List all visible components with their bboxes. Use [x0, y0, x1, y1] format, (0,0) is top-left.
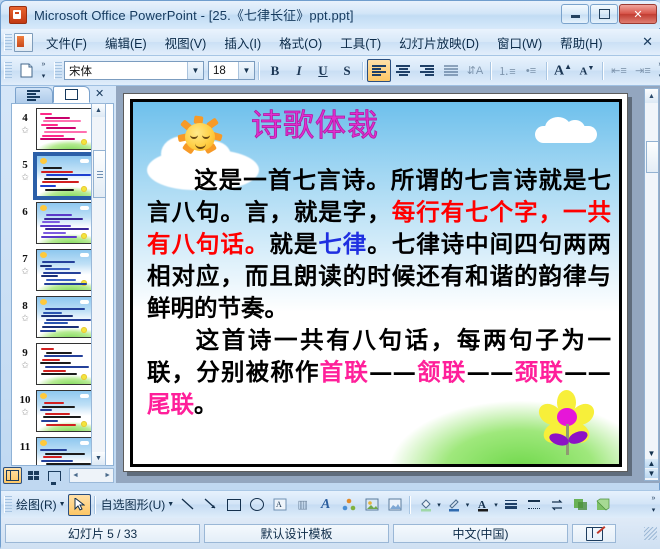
- scroll-left-button[interactable]: ◄: [72, 472, 79, 479]
- bold-button[interactable]: B: [263, 59, 287, 82]
- align-left-icon: [372, 65, 386, 76]
- cloud-icon: [80, 441, 89, 445]
- thumbnail-text-line: [44, 283, 87, 285]
- thumbnail-number: 10: [14, 394, 36, 406]
- drawing-toolbar: 绘图(R) ▼ 自选图形(U) ▼ A ▥ A ▾ ▾ A ▾ »▾: [1, 490, 660, 519]
- slides-pane: ✕ 4✩5✩67✩8✩9✩10✩11 ▲ ▼ ◄ ►: [3, 86, 114, 483]
- rectangle-icon[interactable]: [222, 494, 245, 516]
- animation-star-icon: ✩: [14, 266, 36, 276]
- diagram-icon[interactable]: [337, 494, 360, 516]
- thumbnail-text-line: [43, 232, 66, 234]
- line-spacing-button[interactable]: [439, 59, 463, 82]
- font-name-combo[interactable]: 宋体 ▼: [64, 61, 204, 80]
- thumbnail-text-line: [43, 120, 81, 122]
- slide-canvas[interactable]: 诗歌体裁 这是一首七言诗。所谓的七言诗就是七言八句。言，就是字，每行有七个字，一…: [130, 99, 622, 467]
- toolbar-overflow-1[interactable]: »▾: [38, 60, 49, 82]
- thumbnail-slide-9[interactable]: 9✩: [12, 339, 98, 386]
- close-document-button[interactable]: ✕: [642, 34, 653, 50]
- thumbnail-meta: 10✩: [14, 390, 36, 417]
- thumbnail-text-line: [46, 214, 72, 216]
- thumbnail-preview[interactable]: [36, 249, 94, 291]
- slide-frame: 诗歌体裁 这是一首七言诗。所谓的七言诗就是七言八句。言，就是字，每行有七个字，一…: [123, 93, 628, 472]
- toolbar-grip-2[interactable]: [54, 62, 62, 79]
- select-arrow-icon[interactable]: [68, 494, 91, 516]
- thumbnail-slide-7[interactable]: 7✩: [12, 245, 98, 292]
- thumbnail-text-line: [46, 174, 91, 176]
- sun-icon: [40, 252, 47, 258]
- italic-button[interactable]: I: [287, 59, 311, 82]
- slide-counter: 幻灯片 5 / 33: [5, 524, 200, 543]
- increase-font-size-button[interactable]: A▲: [551, 59, 575, 82]
- promote-icon: ⇤≡: [611, 64, 627, 77]
- thumbnail-number: 7: [14, 253, 36, 265]
- scroll-up-button[interactable]: ▲: [645, 89, 658, 103]
- slide-edit-area: 诗歌体裁 这是一首七言诗。所谓的七言诗就是七言八句。言，就是字，每行有七个字，一…: [116, 86, 660, 483]
- numbering-button[interactable]: ⒈≡: [495, 59, 519, 82]
- animation-star-icon: ✩: [14, 313, 36, 323]
- menu-edit[interactable]: 编辑(E): [97, 29, 155, 56]
- window-title: Microsoft Office PowerPoint - [25.《七律长征》…: [34, 5, 354, 24]
- powerpoint-icon: [9, 6, 27, 24]
- slide-sorter-icon: [28, 471, 39, 480]
- thumbnail-text-line: [44, 355, 83, 357]
- thumbnail-text-line: [42, 135, 64, 137]
- thumbnail-text-line: [42, 406, 75, 408]
- slide-paragraph-2: 这首诗一共有八句话，每两句子为一联，分别被称作首联——颔联——颈联——尾联。: [147, 324, 611, 420]
- cloud-icon: [80, 253, 89, 257]
- autoshapes-menu-button[interactable]: 自选图形(U): [99, 496, 168, 513]
- thumbnail-text-line: [44, 402, 64, 404]
- scroll-right-button[interactable]: ►: [104, 472, 111, 479]
- horizontal-scrollbar[interactable]: ◄ ►: [69, 468, 114, 483]
- thumbnail-text-line: [43, 272, 81, 274]
- slide-show-button[interactable]: [45, 467, 64, 484]
- draw-menu-button[interactable]: 绘图(R): [14, 496, 59, 513]
- scroll-down-button[interactable]: ▼: [648, 449, 656, 458]
- minimize-button[interactable]: [561, 4, 589, 24]
- thumbnail-number: 4: [14, 112, 36, 124]
- menu-bar: 文件(F) 编辑(E) 视图(V) 插入(I) 格式(O) 工具(T) 幻灯片放…: [1, 29, 660, 56]
- thumbnail-text-line: [46, 319, 91, 321]
- cloud-icon: [80, 206, 89, 210]
- menu-window[interactable]: 窗口(W): [489, 29, 550, 56]
- formatting-toolbar: »▾ 宋体 ▼ 18 ▼ B I U S ⇵A: [1, 56, 660, 86]
- thumbnail-number: 5: [14, 159, 36, 171]
- outline-icon: [27, 90, 41, 100]
- menu-format[interactable]: 格式(O): [271, 29, 330, 56]
- thumbnail-text-line: [43, 312, 62, 314]
- oval-icon[interactable]: [245, 494, 268, 516]
- thumbnail-number: 6: [14, 206, 36, 218]
- spellcheck-status[interactable]: [572, 524, 616, 543]
- wordart-vertical-icon[interactable]: ▥: [291, 494, 314, 516]
- thumbnail-text-line: [41, 420, 58, 422]
- normal-view-button[interactable]: [3, 467, 22, 484]
- thumbnail-meta: 5✩: [14, 155, 36, 182]
- font-size-value: 18: [213, 65, 226, 77]
- animation-star-icon: ✩: [14, 360, 36, 370]
- thumbnail-text-line: [42, 359, 60, 361]
- thumbnail-scrollbar[interactable]: ▲ ▼: [91, 103, 106, 466]
- textbox-icon[interactable]: A: [268, 494, 291, 516]
- flower-icon: [81, 139, 87, 145]
- thumbnail-preview[interactable]: [36, 296, 94, 338]
- thumbnail-number: 11: [14, 441, 36, 453]
- thumbnail-slide-5[interactable]: 5✩: [12, 151, 98, 198]
- menu-insert[interactable]: 插入(I): [216, 29, 269, 56]
- thumbnail-text-line: [42, 326, 79, 328]
- thumbnail-text-line: [46, 424, 76, 426]
- thumbnail-text-line: [40, 225, 71, 227]
- font-name-value: 宋体: [69, 63, 92, 79]
- animation-star-icon: ✩: [14, 172, 36, 182]
- line-style-icon[interactable]: [500, 494, 523, 516]
- thumbnail-text-line: [43, 456, 62, 458]
- demote-icon: ⇥≡: [635, 64, 651, 77]
- thumbnail-preview[interactable]: [36, 343, 94, 385]
- 3d-style-icon[interactable]: [592, 494, 615, 516]
- slide-paragraph-1: 这是一首七言诗。所谓的七言诗就是七言八句。言，就是字，每行有七个字，一共有八句话…: [147, 164, 611, 324]
- thumbnail-preview[interactable]: [36, 155, 94, 197]
- thumbnail-meta: 11: [14, 437, 36, 453]
- thumbnail-text-line: [40, 265, 52, 267]
- sun-icon: [40, 158, 47, 164]
- sun-icon: [40, 440, 47, 446]
- svg-text:A: A: [276, 500, 282, 509]
- window-controls: ✕: [561, 4, 657, 24]
- thumbnail-number: 8: [14, 300, 36, 312]
- thumbnail-text-line: [41, 348, 54, 350]
- close-pane-button[interactable]: ✕: [95, 87, 104, 100]
- increase-font-icon: A▲: [554, 62, 572, 80]
- slides-thumbnail-icon: [65, 89, 78, 100]
- document-icon: [14, 33, 33, 52]
- thumbnail-text-line: [46, 279, 76, 281]
- menu-file[interactable]: 文件(F): [38, 29, 95, 56]
- decrease-font-icon: A▼: [580, 64, 595, 78]
- numbering-icon: ⒈≡: [498, 63, 515, 79]
- slide-body-text[interactable]: 这是一首七言诗。所谓的七言诗就是七言八句。言，就是字，每行有七个字，一共有八句话…: [147, 164, 611, 420]
- slide-vertical-scrollbar[interactable]: ▲ ▼ ▲ ▼: [644, 88, 659, 481]
- thumbnail-text-line: [40, 330, 56, 332]
- picture-icon[interactable]: [383, 494, 406, 516]
- animation-star-icon: ✩: [14, 407, 36, 417]
- flower-icon: [81, 374, 87, 380]
- animation-star-icon: ✩: [14, 125, 36, 135]
- flower-icon: [81, 233, 87, 239]
- thumbnail-meta: 6: [14, 202, 36, 218]
- arrow-icon[interactable]: [199, 494, 222, 516]
- chevron-down-icon[interactable]: ▼: [167, 501, 174, 508]
- menu-help[interactable]: 帮助(H): [552, 29, 610, 56]
- language-label[interactable]: 中文(中国): [393, 524, 568, 543]
- toolbar-grip-1[interactable]: [4, 62, 12, 79]
- chevron-down-icon[interactable]: ▼: [187, 62, 203, 79]
- thumbnail-text-line: [40, 409, 52, 411]
- align-center-icon: [396, 65, 410, 76]
- sun-icon: [40, 393, 47, 399]
- thumbnail-slide-6[interactable]: 6: [12, 198, 98, 245]
- thumbnail-preview[interactable]: [36, 437, 94, 466]
- previous-slide-button[interactable]: ▲: [645, 459, 658, 468]
- thumbnail-text-line: [41, 171, 73, 173]
- scroll-down-button[interactable]: ▼: [92, 452, 105, 465]
- slide-nav-buttons: ▼ ▲ ▼: [645, 422, 658, 480]
- thumbnail-number: 9: [14, 347, 36, 359]
- cloud-icon: [80, 300, 89, 304]
- design-template-label[interactable]: 默认设计模板: [204, 524, 389, 543]
- thumbnail-slide-4[interactable]: 4✩: [12, 104, 98, 151]
- menu-tools[interactable]: 工具(T): [332, 29, 389, 56]
- scrollbar-thumb[interactable]: [646, 141, 659, 173]
- thumbnail-slide-10[interactable]: 10✩: [12, 386, 98, 433]
- status-bar: 幻灯片 5 / 33 默认设计模板 中文(中国): [1, 518, 660, 549]
- view-buttons-bar: ◄ ►: [3, 467, 114, 484]
- line-color-icon[interactable]: [443, 494, 466, 516]
- wordart-icon[interactable]: A: [314, 494, 337, 516]
- thumbnail-text-line: [45, 413, 70, 415]
- shadow-style-icon[interactable]: [569, 494, 592, 516]
- text-direction-button[interactable]: ⇵A: [463, 59, 487, 82]
- thumbnail-text-line: [40, 138, 75, 140]
- promote-button[interactable]: ⇤≡: [607, 59, 631, 82]
- toolbar-overflow-2[interactable]: »▾: [655, 60, 660, 82]
- pane-tab-strip: ✕: [3, 86, 114, 103]
- thumbnail-text-line: [40, 113, 52, 115]
- align-left-button[interactable]: [367, 59, 391, 82]
- thumbnail-text-line: [41, 315, 73, 317]
- sun-icon: [40, 299, 47, 305]
- thumbnail-text-line: [45, 189, 74, 191]
- demote-button[interactable]: ⇥≡: [631, 59, 655, 82]
- flower-icon: [81, 186, 87, 192]
- next-slide-button[interactable]: ▼: [645, 469, 658, 478]
- bullets-button[interactable]: •≡: [519, 59, 543, 82]
- thumbnail-text-line: [41, 236, 77, 238]
- dash-style-icon[interactable]: [523, 494, 546, 516]
- thumbnail-text-line: [40, 449, 67, 451]
- text-shadow-button[interactable]: S: [335, 59, 359, 82]
- thumbnail-text-line: [44, 131, 87, 133]
- align-right-button[interactable]: [415, 59, 439, 82]
- arrow-style-icon[interactable]: [546, 494, 569, 516]
- thumbnail-meta: 7✩: [14, 249, 36, 276]
- thumbnail-text-line: [41, 373, 77, 375]
- thumbnail-text-line: [41, 460, 73, 462]
- thumbnail-text-line: [45, 453, 85, 455]
- menu-grip[interactable]: [4, 34, 12, 51]
- thumbnail-text-line: [40, 185, 56, 187]
- underline-button[interactable]: U: [311, 59, 335, 82]
- text-direction-icon: ⇵A: [467, 64, 484, 77]
- flower-icon: [81, 327, 87, 333]
- menu-slideshow[interactable]: 幻灯片放映(D): [391, 29, 487, 56]
- thumbnail-text-line: [41, 124, 58, 126]
- thumbnail-text-line: [45, 117, 70, 119]
- tab-outline[interactable]: [15, 87, 53, 103]
- thumbnail-meta: 8✩: [14, 296, 36, 323]
- thumbnail-text-line: [43, 370, 66, 372]
- thumbnail-text-line: [45, 308, 85, 310]
- chevron-down-icon[interactable]: ▾: [494, 501, 498, 509]
- font-size-combo[interactable]: 18 ▼: [208, 61, 255, 80]
- thumbnail-preview[interactable]: [36, 108, 94, 150]
- cloud-icon: [80, 394, 89, 398]
- thumbnail-text-line: [46, 463, 91, 465]
- thumbnail-text-line: [45, 366, 89, 368]
- align-center-button[interactable]: [391, 59, 415, 82]
- slide-sorter-button[interactable]: [24, 467, 43, 484]
- thumbnail-preview[interactable]: [36, 202, 94, 244]
- decrease-font-size-button[interactable]: A▼: [575, 59, 599, 82]
- clipart-icon[interactable]: [360, 494, 383, 516]
- tab-slides[interactable]: [53, 86, 90, 103]
- chevron-down-icon[interactable]: ▾: [466, 501, 470, 509]
- thumbnail-text-line: [42, 221, 60, 223]
- scrollbar-thumb[interactable]: [93, 150, 106, 198]
- slide-show-icon: [48, 471, 61, 481]
- drawbar-grip[interactable]: [4, 496, 12, 513]
- new-file-icon[interactable]: [14, 59, 38, 82]
- thumbnail-text-line: [44, 218, 83, 220]
- bullets-icon: •≡: [526, 65, 536, 77]
- thumbnail-meta: 4✩: [14, 108, 36, 135]
- thumbnail-text-line: [46, 352, 72, 354]
- normal-view-icon: [6, 470, 19, 481]
- line-spacing-icon: [444, 65, 458, 76]
- powerpoint-window: Microsoft Office PowerPoint - [25.《七律长征》…: [0, 0, 660, 549]
- sun-icon: [40, 205, 47, 211]
- sun-icon: [178, 118, 222, 158]
- thumbnail-slide-11[interactable]: 11: [12, 433, 98, 466]
- menu-view[interactable]: 视图(V): [157, 29, 215, 56]
- flower-icon: [81, 421, 87, 427]
- thumbnail-text-line: [42, 261, 75, 263]
- font-color-icon[interactable]: A: [471, 494, 494, 516]
- thumbnail-preview[interactable]: [36, 390, 94, 432]
- cloud-icon: [80, 159, 89, 163]
- window-resize-grip[interactable]: [644, 527, 657, 540]
- title-bar: Microsoft Office PowerPoint - [25.《七律长征》…: [1, 1, 660, 28]
- maximize-button[interactable]: [590, 4, 618, 24]
- line-icon[interactable]: [176, 494, 199, 516]
- thumbnail-meta: 9✩: [14, 343, 36, 370]
- drawbar-overflow[interactable]: »▾: [648, 494, 659, 516]
- thumbnail-text-line: [43, 167, 62, 169]
- align-right-icon: [420, 65, 434, 76]
- scroll-up-button[interactable]: ▲: [92, 104, 105, 117]
- cloud-icon: [535, 126, 597, 143]
- chevron-down-icon[interactable]: ▾: [437, 501, 441, 509]
- chevron-down-icon[interactable]: ▼: [59, 501, 66, 508]
- thumbnail-text-line: [45, 268, 70, 270]
- slide-title[interactable]: 诗歌体裁: [251, 111, 379, 142]
- thumbnail-text-line: [44, 178, 68, 180]
- fill-color-icon[interactable]: [414, 494, 437, 516]
- chevron-down-icon[interactable]: ▼: [238, 62, 254, 79]
- thumbnail-slide-8[interactable]: 8✩: [12, 292, 98, 339]
- close-button[interactable]: ✕: [619, 4, 657, 24]
